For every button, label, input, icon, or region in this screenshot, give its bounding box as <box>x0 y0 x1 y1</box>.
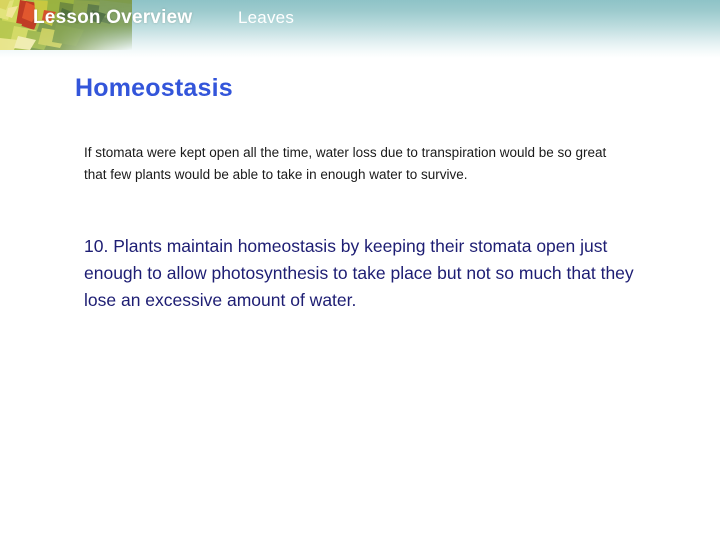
lesson-overview-title: Lesson Overview <box>33 7 192 29</box>
slide: Lesson Overview Leaves Homeostasis If st… <box>0 0 720 540</box>
lesson-subtitle-leaves: Leaves <box>238 8 294 28</box>
section-heading-homeostasis: Homeostasis <box>75 74 233 103</box>
slide-content: Homeostasis If stomata were kept open al… <box>0 58 720 540</box>
body-paragraph-question-10: 10. Plants maintain homeostasis by keepi… <box>84 233 644 314</box>
slide-header-banner: Lesson Overview Leaves <box>0 0 720 58</box>
body-paragraph-transpiration: If stomata were kept open all the time, … <box>84 142 630 186</box>
